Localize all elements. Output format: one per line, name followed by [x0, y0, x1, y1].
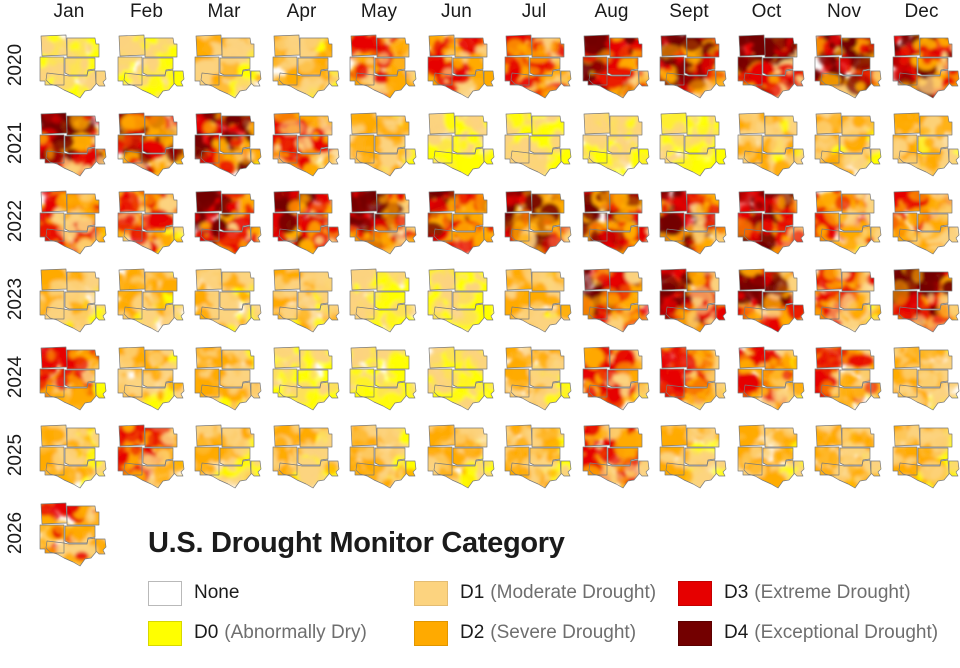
year-label-2021: 2021 [5, 111, 27, 175]
drought-map-2025-dec [886, 418, 960, 492]
drought-map-2021-aug [576, 106, 654, 180]
legend-desc-d3: (Extreme Drought) [754, 582, 910, 604]
legend-desc-d0: (Abnormally Dry) [224, 622, 367, 644]
month-label-oct: Oct [728, 0, 806, 24]
drought-map-2022-sept [653, 184, 731, 258]
year-label-2020: 2020 [5, 33, 27, 97]
month-label-jan: Jan [30, 0, 108, 24]
legend-item-d2: D2(Severe Drought) [414, 618, 636, 648]
year-label-2024: 2024 [5, 345, 27, 409]
legend-items: NoneD0(Abnormally Dry)D1(Moderate Drough… [148, 578, 960, 656]
year-label-2022: 2022 [5, 189, 27, 253]
drought-map-2020-feb [111, 28, 189, 102]
drought-map-2025-jan [33, 418, 111, 492]
month-label-mar: Mar [185, 0, 263, 24]
drought-map-2022-jun [421, 184, 499, 258]
drought-map-2022-apr [266, 184, 344, 258]
month-label-dec: Dec [883, 0, 960, 24]
drought-map-2021-may [343, 106, 421, 180]
year-label-2023: 2023 [5, 267, 27, 331]
legend-item-d3: D3(Extreme Drought) [678, 578, 911, 608]
drought-map-2023-mar [188, 262, 266, 336]
drought-map-2024-sept [653, 340, 731, 414]
drought-map-2021-dec [886, 106, 960, 180]
legend-code-d0: D0 [194, 622, 218, 644]
month-label-aug: Aug [573, 0, 651, 24]
legend-code-d3: D3 [724, 582, 748, 604]
drought-map-2025-apr [266, 418, 344, 492]
drought-map-2024-jan [33, 340, 111, 414]
drought-map-2024-jul [498, 340, 576, 414]
drought-map-2022-may [343, 184, 421, 258]
drought-map-2020-jan [33, 28, 111, 102]
drought-map-2022-nov [808, 184, 886, 258]
drought-map-2025-feb [111, 418, 189, 492]
drought-map-2022-aug [576, 184, 654, 258]
drought-map-2025-jun [421, 418, 499, 492]
drought-map-2021-jun [421, 106, 499, 180]
month-label-apr: Apr [263, 0, 341, 24]
drought-map-2024-dec [886, 340, 960, 414]
drought-map-2025-may [343, 418, 421, 492]
legend-item-d0: D0(Abnormally Dry) [148, 618, 367, 648]
drought-map-2025-sept [653, 418, 731, 492]
drought-map-2023-may [343, 262, 421, 336]
legend-swatch-d4 [678, 621, 712, 646]
drought-map-2024-oct [731, 340, 809, 414]
legend-title: U.S. Drought Monitor Category [148, 526, 960, 560]
drought-map-2024-may [343, 340, 421, 414]
month-label-nov: Nov [805, 0, 883, 24]
drought-map-2023-oct [731, 262, 809, 336]
drought-map-grid: 2020202120222023202420252026 [0, 26, 960, 526]
legend-desc-d1: (Moderate Drought) [490, 582, 656, 604]
drought-map-2021-mar [188, 106, 266, 180]
drought-map-2023-jul [498, 262, 576, 336]
month-label-jun: Jun [418, 0, 496, 24]
year-label-2025: 2025 [5, 423, 27, 487]
drought-map-2023-apr [266, 262, 344, 336]
legend-item-d1: D1(Moderate Drought) [414, 578, 656, 608]
drought-map-2024-aug [576, 340, 654, 414]
month-label-may: May [340, 0, 418, 24]
month-label-jul: Jul [495, 0, 573, 24]
legend-code-d1: D1 [460, 582, 484, 604]
drought-map-2023-jun [421, 262, 499, 336]
drought-map-2024-apr [266, 340, 344, 414]
drought-map-2021-jan [33, 106, 111, 180]
drought-map-2022-dec [886, 184, 960, 258]
drought-map-2022-jul [498, 184, 576, 258]
drought-map-2023-nov [808, 262, 886, 336]
drought-map-2022-feb [111, 184, 189, 258]
drought-map-2023-aug [576, 262, 654, 336]
drought-map-2024-mar [188, 340, 266, 414]
drought-map-2020-apr [266, 28, 344, 102]
legend-desc-d4: (Exceptional Drought) [754, 622, 938, 644]
drought-map-2026-jan [33, 496, 111, 570]
drought-map-2023-jan [33, 262, 111, 336]
legend-swatch-d3 [678, 581, 712, 606]
drought-map-2021-nov [808, 106, 886, 180]
month-header-row: JanFebMarAprMayJunJulAugSeptOctNovDec [30, 0, 960, 26]
drought-map-2020-jul [498, 28, 576, 102]
drought-map-2021-jul [498, 106, 576, 180]
month-label-sept: Sept [650, 0, 728, 24]
drought-map-2023-dec [886, 262, 960, 336]
drought-map-2020-mar [188, 28, 266, 102]
drought-map-2022-mar [188, 184, 266, 258]
legend-code-none: None [194, 582, 239, 604]
drought-map-2024-feb [111, 340, 189, 414]
drought-map-2020-jun [421, 28, 499, 102]
legend-item-d4: D4(Exceptional Drought) [678, 618, 938, 648]
drought-map-2020-aug [576, 28, 654, 102]
drought-map-2020-sept [653, 28, 731, 102]
legend-code-d2: D2 [460, 622, 484, 644]
drought-map-2020-may [343, 28, 421, 102]
drought-map-2021-sept [653, 106, 731, 180]
drought-map-2020-nov [808, 28, 886, 102]
month-label-feb: Feb [108, 0, 186, 24]
drought-map-2025-aug [576, 418, 654, 492]
drought-map-2024-jun [421, 340, 499, 414]
legend-swatch-none [148, 581, 182, 606]
drought-map-2022-jan [33, 184, 111, 258]
legend-code-d4: D4 [724, 622, 748, 644]
drought-map-2021-oct [731, 106, 809, 180]
drought-map-2025-mar [188, 418, 266, 492]
year-label-2026: 2026 [5, 501, 27, 565]
legend-swatch-d2 [414, 621, 448, 646]
drought-map-2020-dec [886, 28, 960, 102]
legend-item-none: None [148, 578, 239, 608]
drought-map-2021-feb [111, 106, 189, 180]
drought-map-2022-oct [731, 184, 809, 258]
drought-map-2023-sept [653, 262, 731, 336]
legend-desc-d2: (Severe Drought) [490, 622, 636, 644]
drought-map-2023-feb [111, 262, 189, 336]
drought-map-2025-oct [731, 418, 809, 492]
drought-map-2020-oct [731, 28, 809, 102]
legend-swatch-d0 [148, 621, 182, 646]
drought-map-2024-nov [808, 340, 886, 414]
drought-map-2021-apr [266, 106, 344, 180]
drought-map-2025-jul [498, 418, 576, 492]
legend-swatch-d1 [414, 581, 448, 606]
legend-block: U.S. Drought Monitor Category NoneD0(Abn… [148, 526, 960, 668]
drought-map-2025-nov [808, 418, 886, 492]
